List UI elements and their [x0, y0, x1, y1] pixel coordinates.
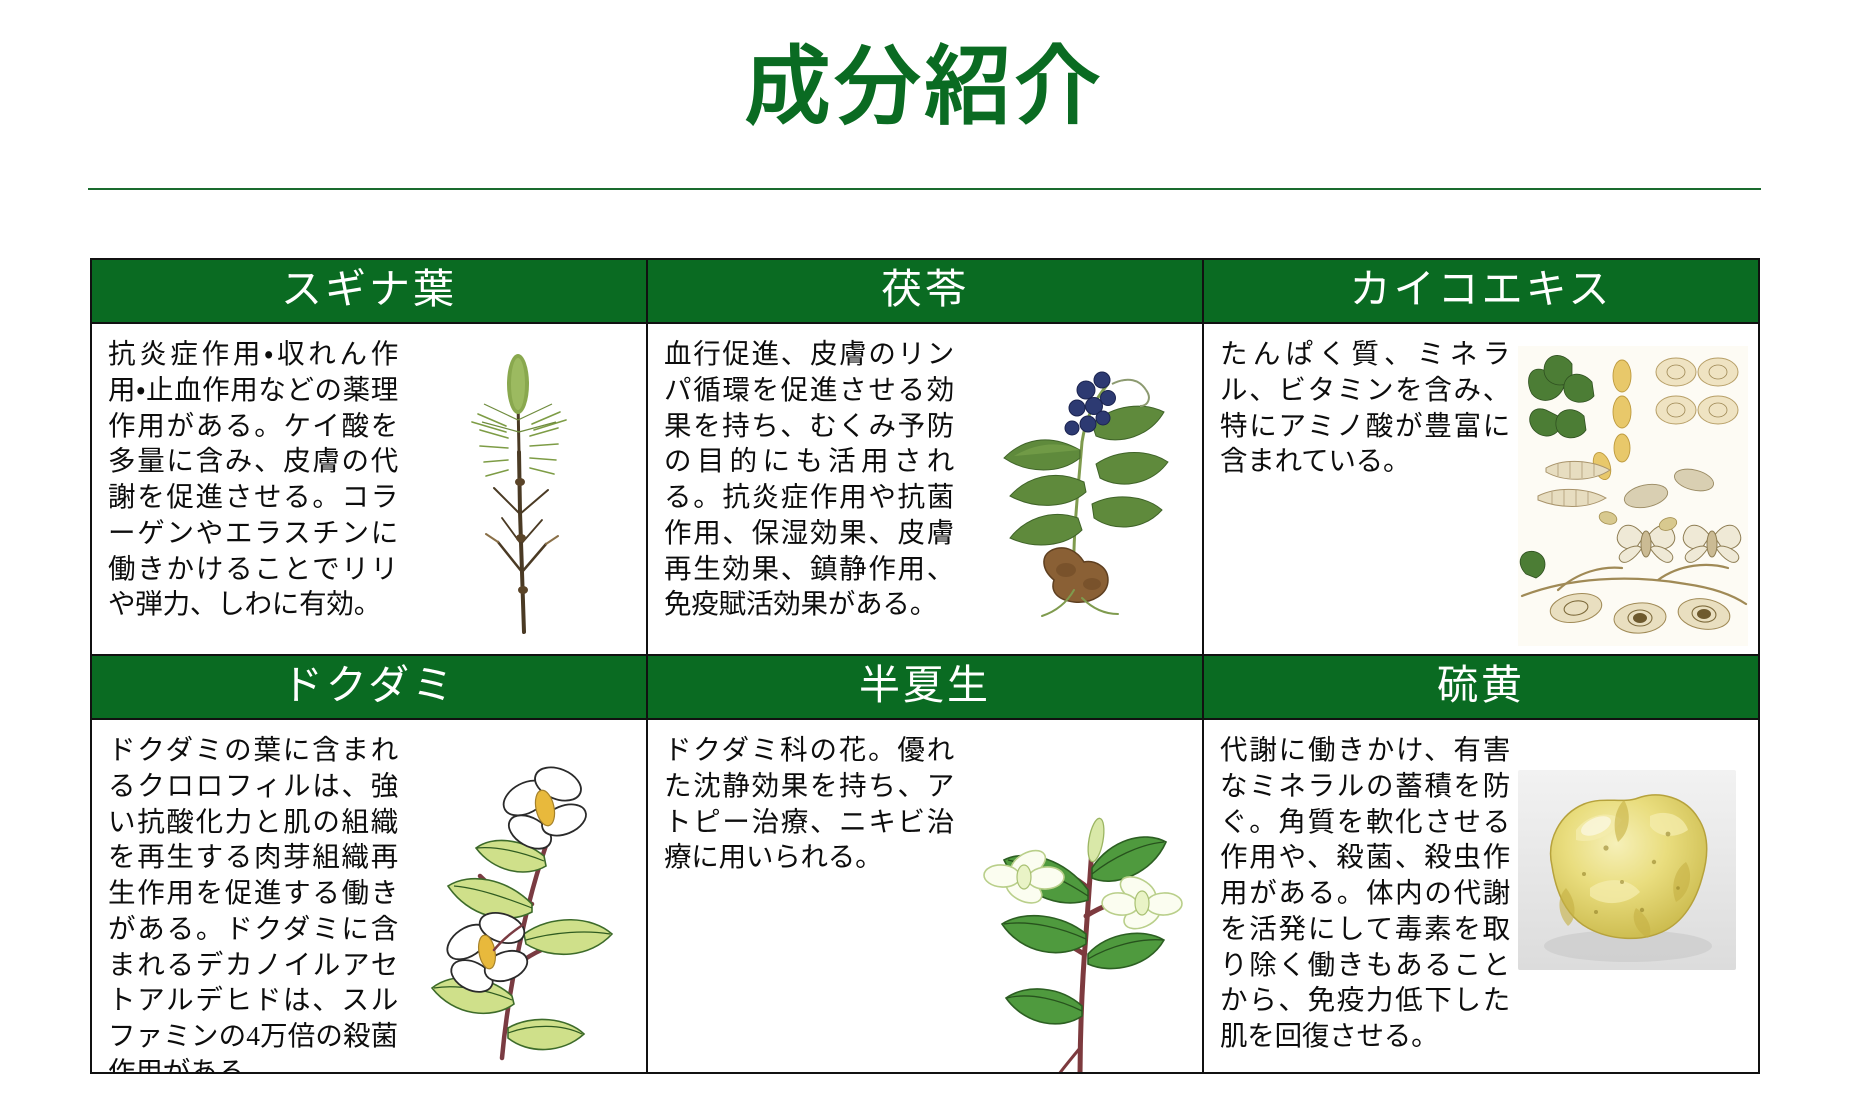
card-body-dokudami: ドクダミの葉に含まれるクロロフィルは、強い抗酸化力と肌の組織を再生する肉芽組織再…	[92, 720, 646, 1072]
card-body-kaiko-ekisu: たんぱく質、ミネラル、ビタミンを含み、特にアミノ酸が豊富に含まれている。	[1204, 324, 1758, 654]
card-header-kaiko-ekisu: カイコエキス	[1204, 260, 1758, 324]
horsetail-plant-illustration	[406, 332, 636, 644]
card-description-bukuryo: 血行促進、皮膚のリンパ循環を促進させる効果を持ち、むくみ予防の目的にも活用される…	[664, 336, 954, 622]
ingredient-card-bukuryo[interactable]: 茯苓 血行促進、皮膚のリンパ循環を促進させる効果を持ち、むくみ予防の目的にも活用…	[647, 259, 1203, 655]
ingredient-table: スギナ葉 抗炎症作用・収れん作用・止血作用などの薬理作用がある。ケイ酸を多量に含…	[90, 258, 1760, 1074]
card-body-hangesho: ドクダミ科の花。優れた沈静効果を持ち、アトピー治療、ニキビ治療に用いられる。	[648, 720, 1202, 1072]
ingredient-card-dokudami[interactable]: ドクダミ ドクダミの葉に含まれるクロロフィルは、強い抗酸化力と肌の組織を再生する…	[91, 655, 647, 1073]
card-description-iou: 代謝に働きかけ、有害なミネラルの蓄積を防ぐ。角質を軟化させる作用や、殺菌、殺虫作…	[1220, 732, 1510, 1054]
ingredient-card-hangesho[interactable]: 半夏生 ドクダミ科の花。優れた沈静効果を持ち、アトピー治療、ニキビ治療に用いられ…	[647, 655, 1203, 1073]
card-body-sugina-ha: 抗炎症作用・収れん作用・止血作用などの薬理作用がある。ケイ酸を多量に含み、皮膚の…	[92, 324, 646, 654]
ingredient-card-kaiko-ekisu[interactable]: カイコエキス たんぱく質、ミネラル、ビタミンを含み、特にアミノ酸が豊富に含まれて…	[1203, 259, 1759, 655]
card-body-iou: 代謝に働きかけ、有害なミネラルの蓄積を防ぐ。角質を軟化させる作用や、殺菌、殺虫作…	[1204, 720, 1758, 1072]
card-header-bukuryo: 茯苓	[648, 260, 1202, 324]
hangesho-plant-illustration	[962, 728, 1192, 1040]
card-header-sugina-ha: スギナ葉	[92, 260, 646, 324]
page-title-block: 成分紹介	[0, 44, 1849, 130]
dokudami-flower-illustration	[406, 728, 636, 1040]
sulfur-mineral-photo	[1518, 770, 1736, 970]
card-header-hangesho: 半夏生	[648, 656, 1202, 720]
card-header-dokudami: ドクダミ	[92, 656, 646, 720]
card-description-hangesho: ドクダミ科の花。優れた沈静効果を持ち、アトピー治療、ニキビ治療に用いられる。	[664, 732, 954, 875]
ingredient-card-sugina-ha[interactable]: スギナ葉 抗炎症作用・収れん作用・止血作用などの薬理作用がある。ケイ酸を多量に含…	[91, 259, 647, 655]
card-description-sugina-ha: 抗炎症作用・収れん作用・止血作用などの薬理作用がある。ケイ酸を多量に含み、皮膚の…	[108, 336, 398, 622]
card-description-kaiko-ekisu: たんぱく質、ミネラル、ビタミンを含み、特にアミノ酸が豊富に含まれている。	[1220, 336, 1510, 479]
card-description-dokudami: ドクダミの葉に含まれるクロロフィルは、強い抗酸化力と肌の組織を再生する肉芽組織再…	[108, 732, 398, 1072]
ingredient-card-iou[interactable]: 硫黄 代謝に働きかけ、有害なミネラルの蓄積を防ぐ。角質を軟化させる作用や、殺菌、…	[1203, 655, 1759, 1073]
table-row: スギナ葉 抗炎症作用・収れん作用・止血作用などの薬理作用がある。ケイ酸を多量に含…	[91, 259, 1759, 655]
title-divider	[88, 188, 1761, 190]
card-header-iou: 硫黄	[1204, 656, 1758, 720]
table-row: ドクダミ ドクダミの葉に含まれるクロロフィルは、強い抗酸化力と肌の組織を再生する…	[91, 655, 1759, 1073]
silkworm-mulberry-illustration	[1518, 332, 1748, 644]
card-body-bukuryo: 血行促進、皮膚のリンパ循環を促進させる効果を持ち、むくみ予防の目的にも活用される…	[648, 324, 1202, 654]
ingredient-introduction-page: 成分紹介 スギナ葉 抗炎症作用・収れん作用・止血作用などの薬理作用がある。ケイ酸…	[0, 0, 1849, 1120]
page-title: 成分紹介	[0, 44, 1849, 130]
poria-berry-plant-illustration	[962, 332, 1192, 644]
